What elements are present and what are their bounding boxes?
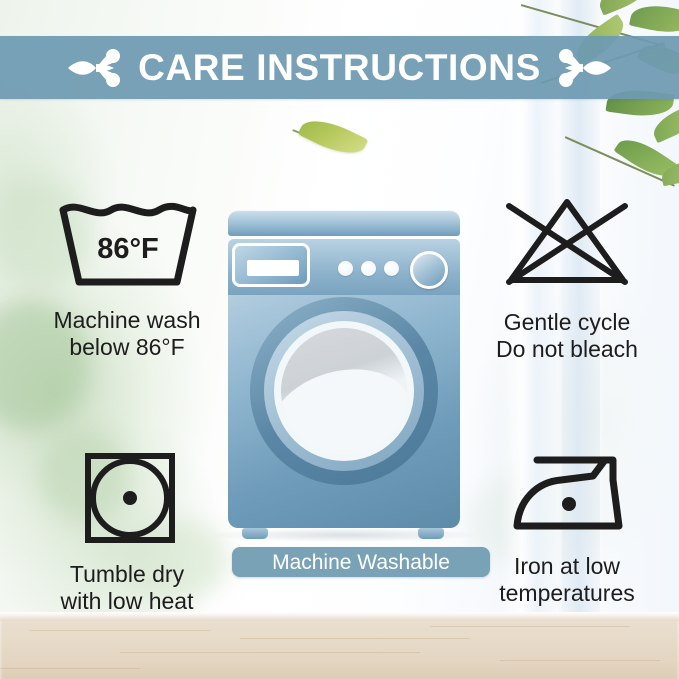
page-title: CARE INSTRUCTIONS xyxy=(138,49,541,86)
wood-grain-line xyxy=(0,668,140,669)
wooden-table-surface xyxy=(0,612,679,679)
care-symbol-do-not-bleach: Gentle cycle Do not bleach xyxy=(458,192,676,363)
wash-temperature-label: 86°F xyxy=(97,233,159,265)
header-banner: CARE INSTRUCTIONS xyxy=(0,36,679,99)
machine-foot xyxy=(242,528,268,539)
door-glass xyxy=(281,328,407,454)
care-instructions-poster: CARE INSTRUCTIONS 86°F Machine xyxy=(0,0,679,679)
door-glass-highlight xyxy=(281,358,407,454)
caption-line-1: Machine wash xyxy=(18,307,236,334)
machine-button xyxy=(338,261,353,276)
washing-machine-illustration xyxy=(228,210,460,534)
caption-line-2: with low heat xyxy=(18,588,236,615)
care-symbol-tumble-dry: Tumble dry with low heat xyxy=(18,448,236,615)
wood-grain-line xyxy=(30,630,210,631)
wood-grain-line xyxy=(430,626,630,627)
leaf xyxy=(629,0,679,38)
caption-line-1: Iron at low xyxy=(458,553,676,580)
wash-tub-icon: 86°F xyxy=(18,196,236,297)
fleur-de-lis-icon xyxy=(557,45,613,91)
badge-label: Machine Washable xyxy=(272,552,450,573)
caption-line-2: Do not bleach xyxy=(458,336,676,363)
caption-line-2: temperatures xyxy=(458,580,676,607)
fleur-de-lis-icon xyxy=(66,45,122,91)
triangle-crossed-out-icon xyxy=(458,192,676,297)
iron-icon xyxy=(458,452,676,545)
care-symbol-machine-wash: 86°F Machine wash below 86°F xyxy=(18,196,236,361)
drawer-slot xyxy=(247,260,299,276)
table-front-edge xyxy=(0,612,679,621)
care-symbol-iron: Iron at low temperatures xyxy=(458,452,676,607)
caption-line-1: Gentle cycle xyxy=(458,309,676,336)
wood-grain-line xyxy=(500,660,660,661)
machine-button xyxy=(361,261,376,276)
caption-line-2: below 86°F xyxy=(18,334,236,361)
detergent-drawer xyxy=(232,243,310,287)
machine-top-lid xyxy=(228,210,460,236)
machine-body xyxy=(228,239,460,528)
caption-line-1: Tumble dry xyxy=(18,561,236,588)
wood-grain-line xyxy=(120,652,420,653)
machine-button xyxy=(384,261,399,276)
machine-foot xyxy=(418,528,444,539)
machine-program-dial xyxy=(410,251,448,289)
wood-grain-line xyxy=(240,638,470,639)
tumble-dry-square-icon xyxy=(18,448,236,553)
machine-washable-badge: Machine Washable xyxy=(232,547,490,577)
